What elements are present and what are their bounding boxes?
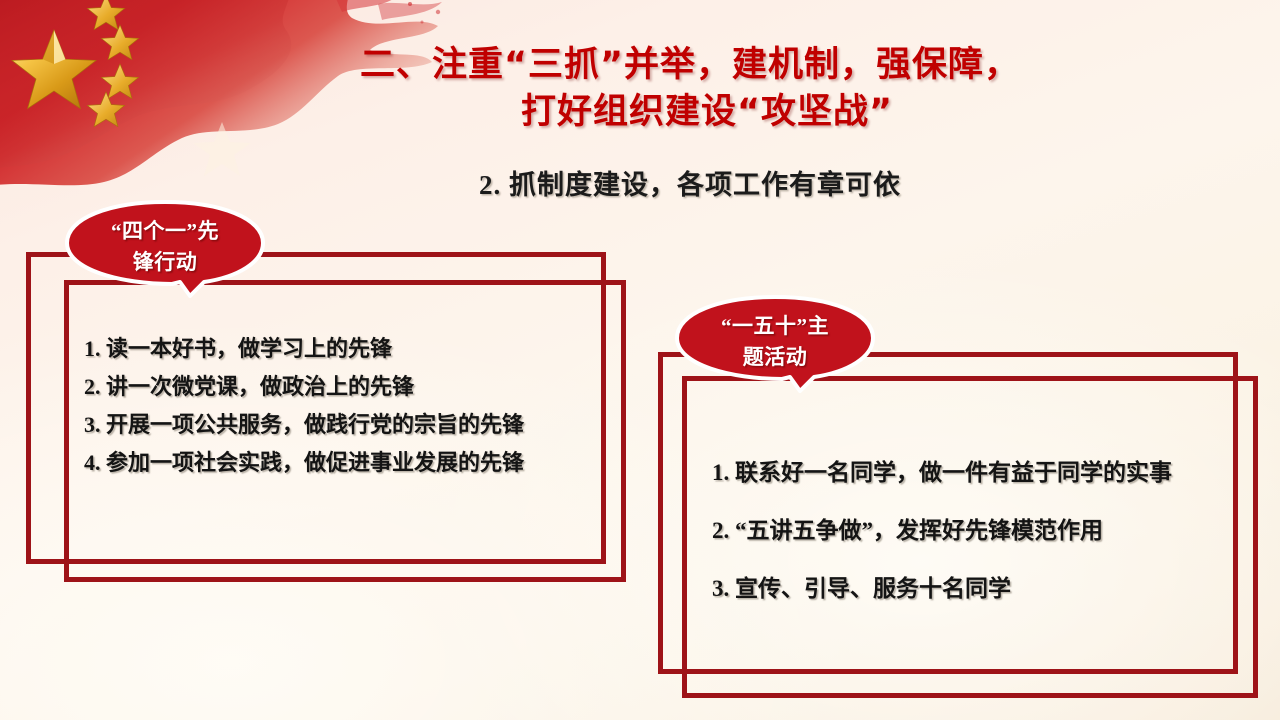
item-list-left: 1. 读一本好书，做学习上的先锋 2. 讲一次微党课，做政治上的先锋 3. 开展… xyxy=(84,330,629,482)
list-item: 1. 读一本好书，做学习上的先锋 xyxy=(84,330,629,368)
speech-bubble-icon xyxy=(62,200,268,298)
page-subtitle: 2. 抓制度建设，各项工作有章可依 xyxy=(340,163,1040,202)
panel-body-left: 1. 读一本好书，做学习上的先锋 2. 讲一次微党课，做政治上的先锋 3. 开展… xyxy=(84,330,629,482)
callout-bubble-theme-activity: “一五十”主 题活动 xyxy=(672,295,878,393)
panel-body-right: 1. 联系好一名同学，做一件有益于同学的实事 2. “五讲五争做”，发挥好先锋模… xyxy=(712,444,1272,618)
list-item: 2. “五讲五争做”，发挥好先锋模范作用 xyxy=(712,502,1272,560)
callout-bubble-pioneer-action: “四个一”先 锋行动 xyxy=(62,200,268,298)
slide-canvas: 二、注重“三抓”并举，建机制，强保障， 打好组织建设“攻坚战” 2. 抓制度建设… xyxy=(0,0,1280,720)
title-line-1: 二、注重“三抓”并举，建机制，强保障， xyxy=(340,42,1040,89)
list-item: 3. 开展一项公共服务，做践行党的宗旨的先锋 xyxy=(84,406,629,444)
list-item: 3. 宣传、引导、服务十名同学 xyxy=(712,560,1272,618)
panel-pioneer-action: 1. 读一本好书，做学习上的先锋 2. 讲一次微党课，做政治上的先锋 3. 开展… xyxy=(26,252,626,582)
list-item: 2. 讲一次微党课，做政治上的先锋 xyxy=(84,368,629,406)
panel-theme-activity: 1. 联系好一名同学，做一件有益于同学的实事 2. “五讲五争做”，发挥好先锋模… xyxy=(658,352,1258,698)
list-item: 1. 联系好一名同学，做一件有益于同学的实事 xyxy=(712,444,1272,502)
flag-stars-group xyxy=(12,0,139,127)
list-item: 4. 参加一项社会实践，做促进事业发展的先锋 xyxy=(84,444,629,482)
page-title: 二、注重“三抓”并举，建机制，强保障， 打好组织建设“攻坚战” xyxy=(340,42,1040,136)
title-line-2: 打好组织建设“攻坚战” xyxy=(340,89,1040,136)
item-list-right: 1. 联系好一名同学，做一件有益于同学的实事 2. “五讲五争做”，发挥好先锋模… xyxy=(712,444,1272,618)
speech-bubble-icon xyxy=(672,295,878,393)
